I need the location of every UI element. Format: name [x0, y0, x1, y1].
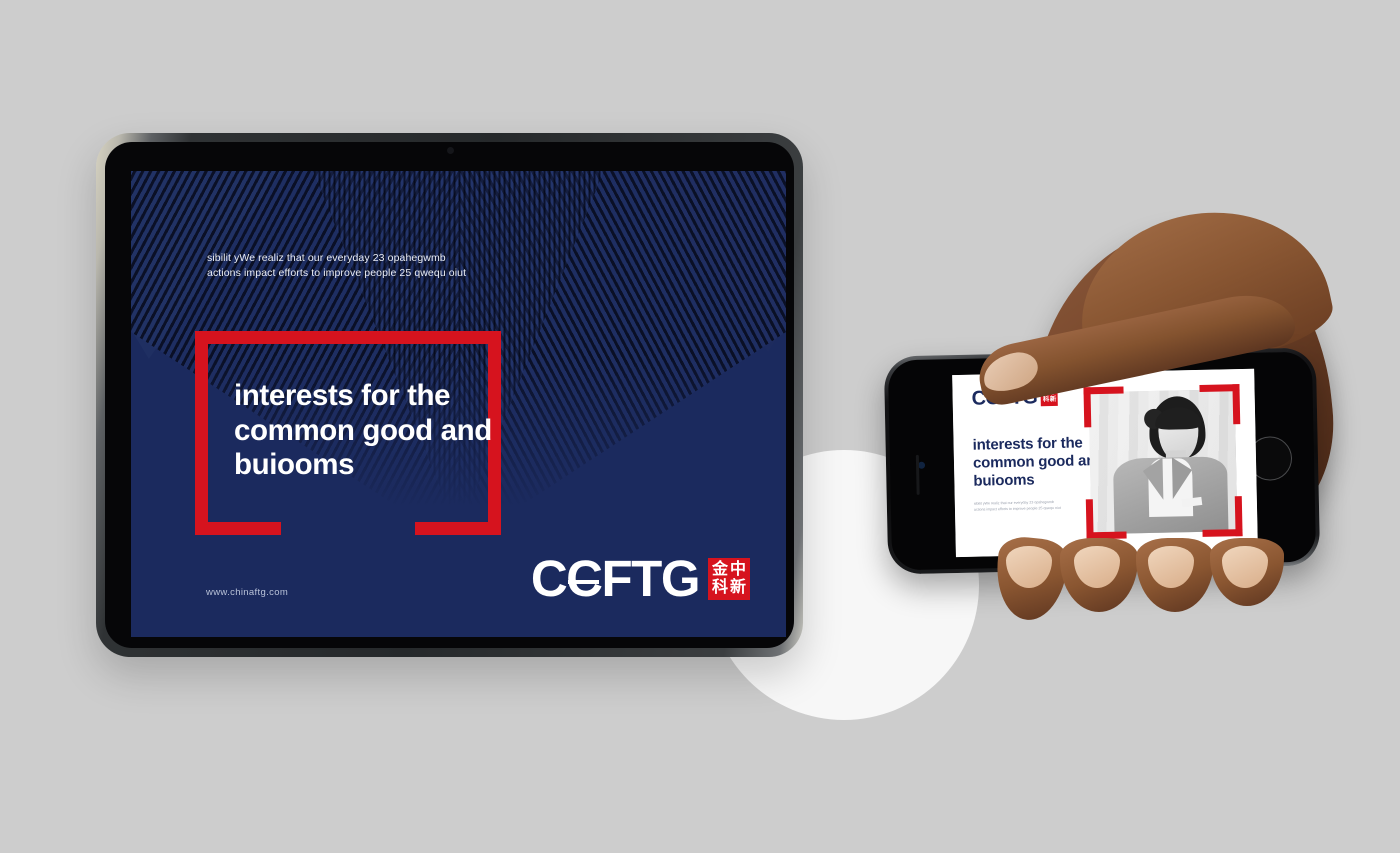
bracket-corner-top-right — [1199, 384, 1240, 425]
tablet-headline-line-3: buiooms — [234, 448, 534, 483]
mockup-stage: sibilit yWe realiz that our everyday 23 … — [0, 0, 1400, 853]
tablet-headline-line-1: interests for the — [234, 379, 534, 414]
front-camera-icon — [447, 147, 454, 154]
bracket-corner-bottom-left — [1086, 499, 1127, 540]
tablet-website-url[interactable]: www.chinaftg.com — [206, 587, 288, 598]
tablet-kicker-line-2: actions impact efforts to improve people… — [207, 266, 527, 281]
caftg-wordmark: C C FTG — [531, 553, 699, 604]
bracket-corner-bottom-right — [1202, 496, 1243, 537]
portrait-photo-block — [1083, 384, 1242, 539]
tablet-bezel: sibilit yWe realiz that our everyday 23 … — [105, 142, 794, 648]
bracket-corner-top-left — [1083, 387, 1124, 428]
wordmark-ftg: FTG — [602, 553, 699, 604]
tablet-kicker-line-1: sibilit yWe realiz that our everyday 23 … — [207, 251, 527, 266]
tablet-screen[interactable]: sibilit yWe realiz that our everyday 23 … — [131, 171, 786, 637]
hand-holding-phone: C C FTG 金 中 科 新 — [880, 210, 1360, 770]
earpiece-speaker-icon — [916, 455, 920, 495]
phone-body-line-2: actions impact efforts to improve people… — [974, 504, 1092, 513]
tablet-slide: sibilit yWe realiz that our everyday 23 … — [131, 171, 786, 637]
wordmark-c: C — [531, 553, 566, 604]
tablet-device[interactable]: sibilit yWe realiz that our everyday 23 … — [96, 133, 803, 657]
tablet-headline-line-2: common good and — [234, 414, 534, 449]
hand-fingers — [996, 538, 1326, 628]
tablet-kicker-text: sibilit yWe realiz that our everyday 23 … — [207, 251, 527, 281]
tablet-headline: interests for the common good and buioom… — [234, 379, 534, 483]
caftg-logo-light: C C FTG 金 中 科 新 — [531, 553, 750, 604]
chinese-seal-icon: 金 中 科 新 — [708, 558, 750, 600]
phone-body-text: sibilit yWe realiz that our everyday 23 … — [974, 498, 1092, 513]
wordmark-stylized-a: C — [566, 553, 601, 604]
